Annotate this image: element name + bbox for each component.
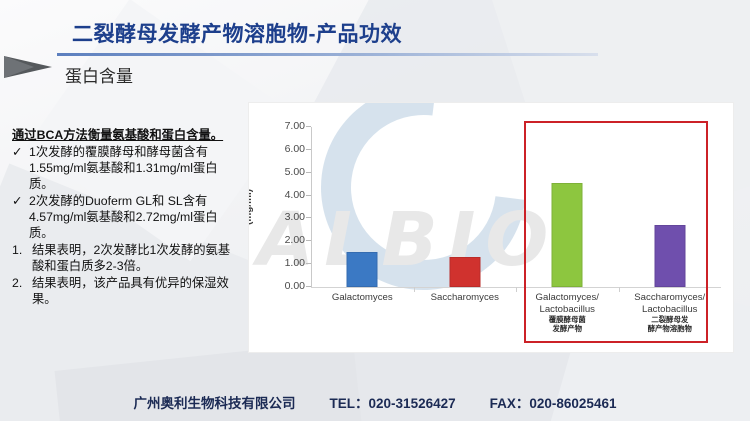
bar-slot	[619, 127, 722, 287]
footer-company: 广州奥利生物科技有限公司	[134, 392, 296, 412]
x-axis-label-cn: 发酵产物	[516, 325, 619, 334]
bar	[654, 225, 685, 287]
bar	[552, 183, 583, 287]
y-axis-title: (mg/ml)	[249, 189, 254, 225]
x-axis-label-line: Galactomyces/	[516, 292, 619, 304]
bar-series	[311, 127, 721, 287]
chart-panel: ALBIO (mg/ml) 0.001.002.003.004.005.006.…	[249, 103, 733, 352]
list-item: 2. 结果表明，该产品具有优异的保湿效果。	[12, 276, 234, 308]
list-marker-number: 1.	[12, 243, 28, 259]
bar-slot	[311, 127, 414, 287]
arrow-marker-icon	[4, 56, 52, 78]
bar-slot	[414, 127, 517, 287]
footer-tel: TEL：020-31526427	[330, 392, 456, 412]
body-list: ✓ 1次发酵的覆膜酵母和酵母菌含有1.55mg/ml氨基酸和1.31mg/ml蛋…	[12, 145, 234, 308]
page-subtitle: 蛋白含量	[65, 62, 133, 87]
page-title: 二裂酵母发酵产物溶胞物-产品功效	[72, 18, 402, 48]
x-axis-label-cn: 酵产物溶胞物	[619, 325, 722, 334]
x-axis-label-line: Saccharomyces	[414, 292, 517, 304]
footer: 广州奥利生物科技有限公司 TEL：020-31526427 FAX：020-86…	[0, 392, 750, 412]
list-item-label: 2次发酵的Duoferm GL和 SL含有4.57mg/ml氨基酸和2.72mg…	[29, 194, 234, 242]
y-axis-tick-label: 5.00	[261, 166, 305, 178]
y-axis-tick-label: 6.00	[261, 143, 305, 155]
y-axis-tick-label: 1.00	[261, 257, 305, 269]
bar-chart: (mg/ml) 0.001.002.003.004.005.006.007.00…	[249, 103, 733, 352]
list-item-label: 1次发酵的覆膜酵母和酵母菌含有1.55mg/ml氨基酸和1.31mg/ml蛋白质…	[29, 145, 234, 193]
y-axis-tick-label: 2.00	[261, 234, 305, 246]
list-item-label: 结果表明，2次发酵比1次发酵的氨基酸和蛋白质多2-3倍。	[32, 243, 234, 275]
x-axis-label-line: Saccharomyces/	[619, 292, 722, 304]
x-axis-label: Saccharomyces	[414, 292, 517, 304]
y-axis-tick-label: 7.00	[261, 120, 305, 132]
list-item-label: 结果表明，该产品具有优异的保湿效果。	[32, 276, 234, 308]
x-axis-label-line: Galactomyces	[311, 292, 414, 304]
list-marker-check-icon: ✓	[12, 145, 25, 161]
x-axis-label: Saccharomyces/Lactobacillus二裂酵母发酵产物溶胞物	[619, 292, 722, 334]
body-text-block: 通过BCA方法衡量氨基酸和蛋白含量。 ✓ 1次发酵的覆膜酵母和酵母菌含有1.55…	[12, 128, 234, 308]
bar-slot	[516, 127, 619, 287]
list-marker-check-icon: ✓	[12, 194, 25, 210]
bar	[347, 252, 378, 287]
y-axis-tick-label: 3.00	[261, 211, 305, 223]
bar	[449, 257, 480, 287]
x-axis-label: Galactomyces/Lactobacillus覆膜酵母菌发酵产物	[516, 292, 619, 334]
list-item: ✓ 2次发酵的Duoferm GL和 SL含有4.57mg/ml氨基酸和2.72…	[12, 194, 234, 242]
title-divider	[57, 53, 598, 56]
x-axis-label: Galactomyces	[311, 292, 414, 304]
y-axis-tick-label: 0.00	[261, 280, 305, 292]
y-axis-tick-label: 4.00	[261, 189, 305, 201]
list-marker-number: 2.	[12, 276, 28, 292]
body-heading: 通过BCA方法衡量氨基酸和蛋白含量。	[12, 128, 234, 144]
footer-fax: FAX：020-86025461	[490, 392, 617, 412]
list-item: ✓ 1次发酵的覆膜酵母和酵母菌含有1.55mg/ml氨基酸和1.31mg/ml蛋…	[12, 145, 234, 193]
list-item: 1. 结果表明，2次发酵比1次发酵的氨基酸和蛋白质多2-3倍。	[12, 243, 234, 275]
